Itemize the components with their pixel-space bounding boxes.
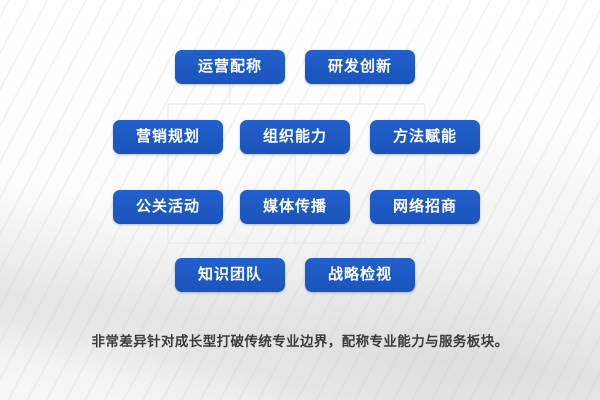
node-label: 组织能力 (263, 129, 327, 145)
org-chart-diagram: 运营配称 研发创新 营销规划 组织能力 方法赋能 公关活动 媒体传播 网络招商 … (0, 0, 600, 400)
node-label: 运营配称 (198, 59, 262, 75)
node-label: 战略检视 (328, 267, 392, 283)
node-row2-2[interactable]: 方法赋能 (370, 120, 480, 154)
node-row1-0[interactable]: 运营配称 (175, 50, 285, 84)
node-row2-1[interactable]: 组织能力 (240, 120, 350, 154)
node-label: 研发创新 (328, 59, 392, 75)
node-label: 营销规划 (136, 129, 200, 145)
node-label: 网络招商 (393, 199, 457, 215)
node-row3-1[interactable]: 媒体传播 (240, 190, 350, 224)
node-row4-0[interactable]: 知识团队 (175, 258, 285, 292)
node-row3-2[interactable]: 网络招商 (370, 190, 480, 224)
node-row1-1[interactable]: 研发创新 (305, 50, 415, 84)
diagram-caption: 非常差异针对成长型打破传统专业边界，配称专业能力与服务板块。 (0, 330, 600, 350)
node-label: 媒体传播 (263, 199, 327, 215)
node-row4-1[interactable]: 战略检视 (305, 258, 415, 292)
node-label: 方法赋能 (393, 129, 457, 145)
node-row2-0[interactable]: 营销规划 (113, 120, 223, 154)
node-row3-0[interactable]: 公关活动 (113, 190, 223, 224)
node-label: 知识团队 (198, 267, 262, 283)
node-label: 公关活动 (136, 199, 200, 215)
